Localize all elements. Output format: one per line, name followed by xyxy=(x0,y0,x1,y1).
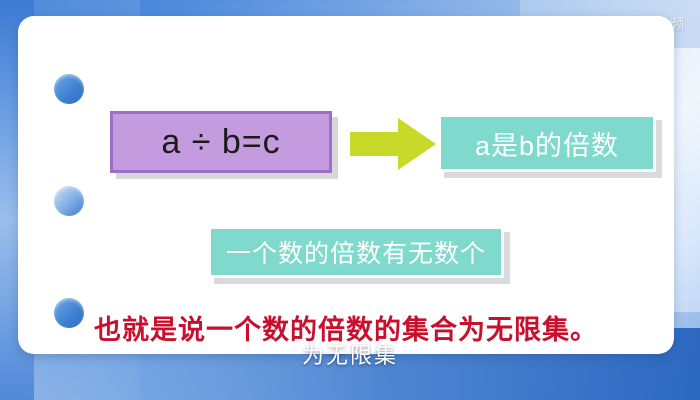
note-text: 一个数的倍数有无数个 xyxy=(226,234,486,270)
notebook-card: a ÷ b=c a是b的倍数 一个数的倍数有无数个 也就是说一个数的倍数的集合为… xyxy=(18,16,674,354)
result-box: a是b的倍数 xyxy=(438,114,656,172)
formula-box: a ÷ b=c xyxy=(110,111,332,173)
binder-ring-icon xyxy=(54,74,84,104)
binder-ring-icon xyxy=(54,186,84,216)
right-arrow-icon xyxy=(350,116,436,172)
subtitle-caption: 为无限集 xyxy=(0,338,700,370)
result-text: a是b的倍数 xyxy=(475,124,619,163)
note-box: 一个数的倍数有无数个 xyxy=(208,226,504,278)
formula-text: a ÷ b=c xyxy=(161,125,280,159)
video-frame: 天奇·视频 a ÷ b=c a是b的倍数 一个数的倍数有无数个 也就是说一个数的… xyxy=(0,0,700,400)
